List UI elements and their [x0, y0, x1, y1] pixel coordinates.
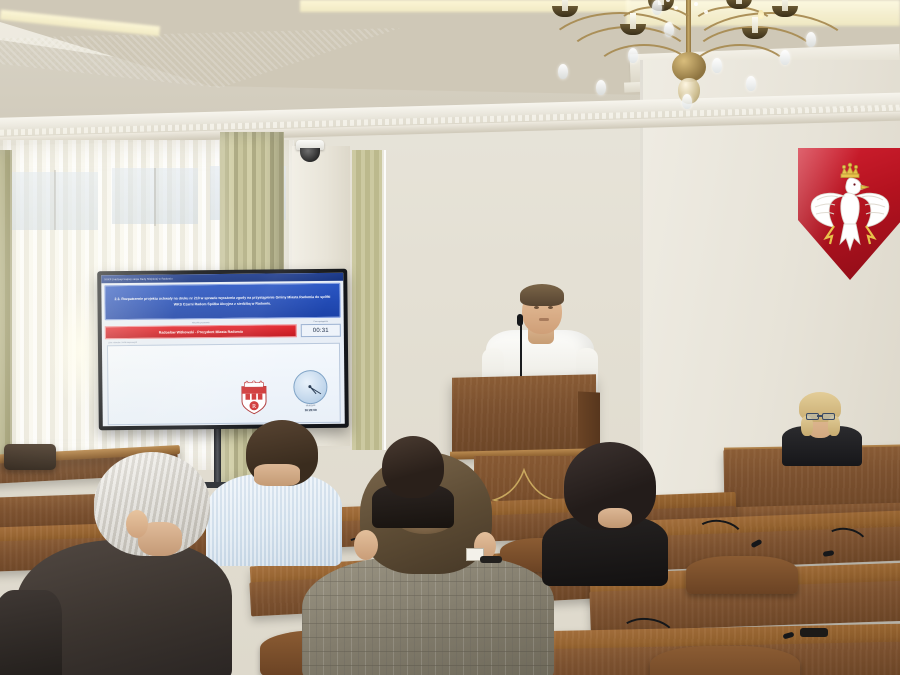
- agenda-item-text: 2.3. Rozpatrzenie projektu uchwały na dr…: [113, 295, 331, 308]
- svg-text:R: R: [252, 404, 256, 410]
- person-attendee-6: [0, 560, 64, 675]
- chair-row-1-b: [650, 646, 800, 675]
- chandelier-candle: [736, 0, 742, 4]
- dome-camera-icon: [296, 140, 324, 164]
- attendee-6-body: [0, 590, 62, 675]
- desk-device-2: [800, 628, 828, 637]
- chandelier-crystal: [712, 58, 722, 73]
- session-header-bar: XXXII (nadzwyczajna) sesja Rady Miejskie…: [101, 273, 343, 284]
- chandelier-crystal: [628, 48, 638, 63]
- camera-dome: [300, 148, 320, 162]
- chandelier-candle: [630, 13, 636, 29]
- speaker-list-panel: R 05.08.2022 16:20:09: [107, 343, 341, 425]
- attendee-5-hair: [382, 436, 444, 498]
- official-glasses-right: [822, 413, 835, 420]
- speaker-name-text: Radosław Witkowski - Prezydent Miasta Ra…: [159, 329, 243, 334]
- chandelier-crystal: [806, 32, 816, 47]
- chandelier-crystal: [746, 76, 756, 91]
- speaker-mouth: [539, 318, 549, 321]
- chandelier-crystal: [558, 64, 568, 79]
- polish-coat-of-arms: [798, 148, 900, 280]
- window-pane-1: [6, 172, 98, 230]
- clock-time-text: 16:20:09: [294, 408, 328, 412]
- council-chamber-photo: XXXII (nadzwyczajna) sesja Rady Miejskie…: [0, 0, 900, 675]
- clock-face: [293, 370, 327, 404]
- presentation-display[interactable]: XXXII (nadzwyczajna) sesja Rady Miejskie…: [97, 269, 349, 431]
- agenda-item-panel: 2.3. Rozpatrzenie projektu uchwały na dr…: [104, 283, 340, 320]
- chandelier-candle: [562, 0, 568, 11]
- desk-device: [480, 556, 502, 563]
- chandelier-candle: [752, 17, 758, 33]
- attendee-3-ear-left: [354, 530, 378, 560]
- chandelier-crystal: [664, 22, 674, 37]
- curtain-right: [352, 150, 382, 450]
- chair-row-2-b: [686, 556, 798, 594]
- radom-crest-icon: R: [240, 381, 267, 415]
- session-clock: 05.08.2022 16:20:09: [293, 370, 327, 410]
- chandelier-bulb: [758, 10, 764, 19]
- speech-timer-box: Czas wystąpienia 00:31: [301, 321, 341, 337]
- chandelier-crystal: [780, 50, 790, 65]
- clock-center-pin: [308, 385, 311, 388]
- chandelier-crystal: [596, 80, 606, 95]
- attendee-1-ear: [126, 510, 148, 538]
- chandelier: [536, 0, 866, 120]
- podium-microphone-head: [517, 314, 523, 326]
- chandelier-bead: [694, 2, 698, 6]
- chandelier-crystal: [682, 94, 692, 109]
- speaker-hair: [520, 284, 564, 306]
- podium-microphone-stem: [520, 320, 522, 382]
- window-mullion-2: [154, 168, 156, 226]
- speaker-timer-row: Aktualnie przemawia Radosław Witkowski -…: [105, 321, 341, 339]
- person-attendee-5: [366, 436, 458, 522]
- attendee-2-neck: [254, 464, 300, 486]
- current-speaker-box: Aktualnie przemawia Radosław Witkowski -…: [105, 321, 297, 339]
- timer-display: 00:31: [301, 324, 341, 337]
- chandelier-bead: [674, 6, 678, 10]
- session-header-text: XXXII (nadzwyczajna) sesja Rady Miejskie…: [104, 277, 172, 281]
- speaker-eye-right: [548, 306, 553, 309]
- curtain-left: [0, 150, 12, 480]
- speaker-name-banner: Radosław Witkowski - Prezydent Miasta Ra…: [105, 324, 297, 339]
- official-glasses-bridge: [817, 415, 822, 417]
- chandelier-bead: [704, 10, 708, 14]
- person-attendee-4: [542, 442, 672, 582]
- display-screen: XXXII (nadzwyczajna) sesja Rady Miejskie…: [101, 273, 345, 427]
- attendee-4-neck: [598, 508, 632, 528]
- window-mullion-1: [54, 170, 56, 230]
- chandelier-crystal: [652, 0, 662, 15]
- timer-value-text: 00:31: [313, 327, 329, 333]
- chandelier-candle: [782, 0, 788, 11]
- speaker-eye-left: [534, 306, 539, 309]
- person-official: [778, 388, 864, 460]
